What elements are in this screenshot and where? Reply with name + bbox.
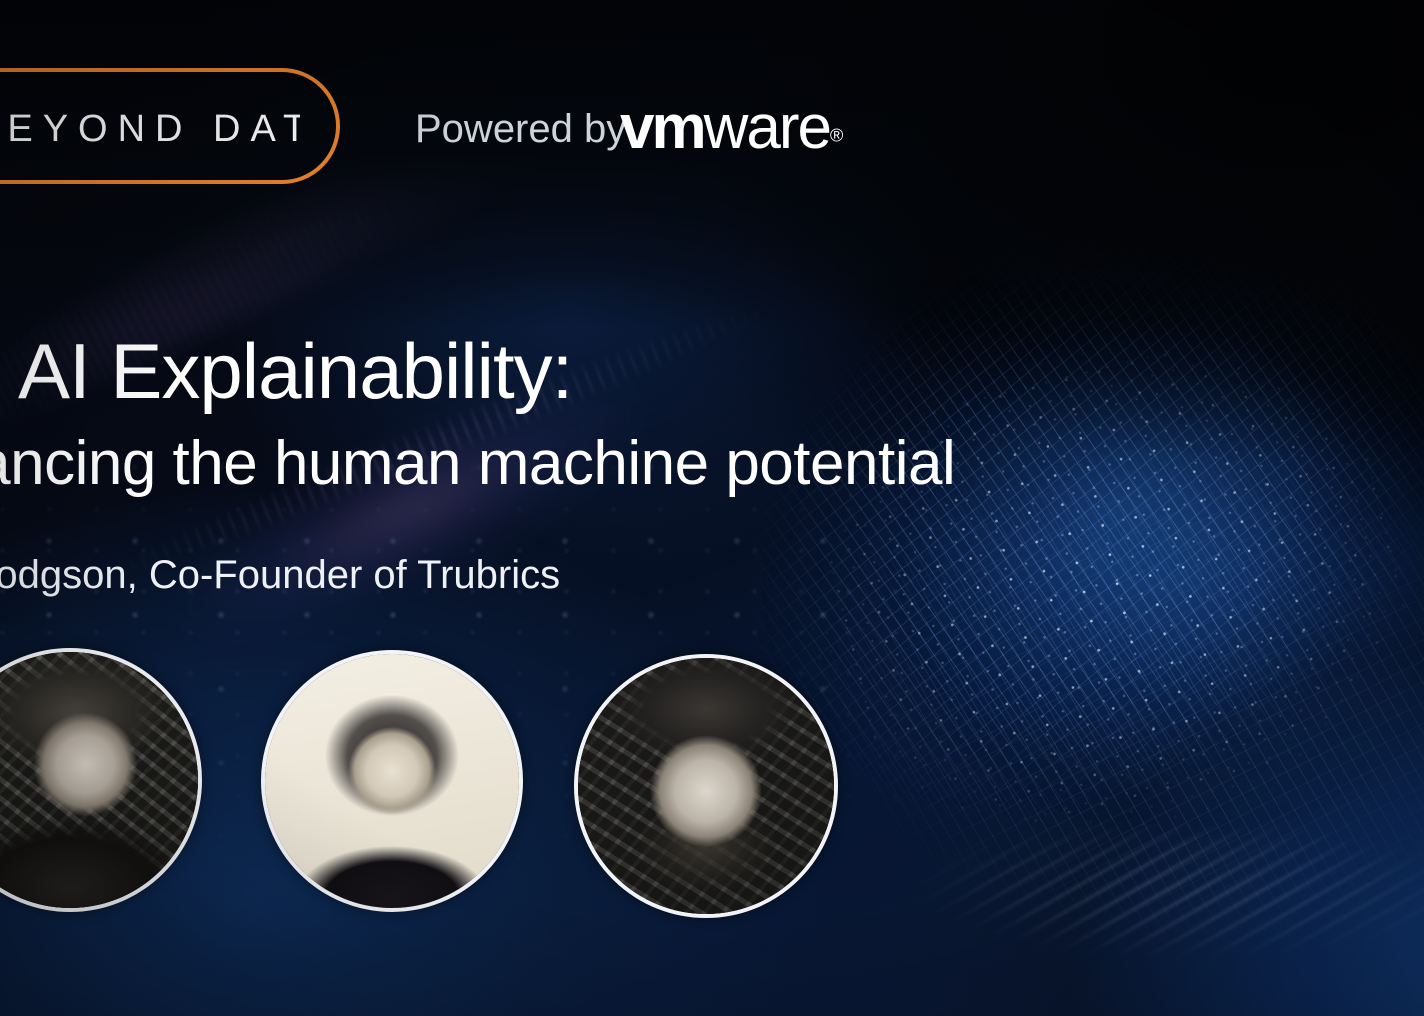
speaker-avatar-group [0, 0, 1424, 1016]
avatar [0, 648, 202, 912]
avatar [261, 650, 523, 912]
webinar-title-slide: BEYOND DATA Powered by vmware® AI Explai… [0, 0, 1424, 1016]
avatar [574, 654, 838, 918]
avatar-photo-2 [265, 654, 519, 908]
avatar-photo-1 [0, 652, 198, 908]
avatar-photo-3 [578, 658, 834, 914]
